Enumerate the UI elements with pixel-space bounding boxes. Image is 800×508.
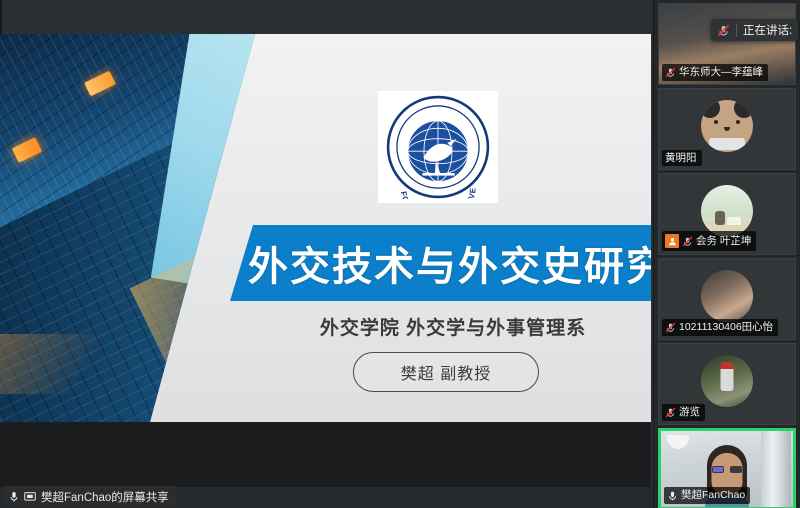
participant-name: 游览 [679,407,700,418]
participant-name-tag: 黄明阳 [662,150,702,167]
speaking-banner-text: 正在讲话: [743,22,792,38]
slide-title: 外交技术与外交史研究 [265,230,651,296]
cat-avatar-icon [701,100,753,152]
avatar [701,100,753,152]
participant-tile-active-speaker[interactable]: 樊超FanChao [658,428,796,508]
share-label-text: 樊超FanChao的屏幕共享 [41,489,169,505]
participant-name: 华东师大—李蕴峰 [679,67,763,78]
participant-tile[interactable]: 黄明阳 [658,88,796,170]
participant-name-tag: 会务 叶芷坤 [662,231,756,251]
screen-share-viewport[interactable]: 外交学院 CHINA FOREIGN AFFAIRS UNIVERSITY 外交… [0,0,653,487]
mic-muted-icon [665,407,676,418]
mic-muted-icon [665,67,676,78]
participant-name-tag: 游览 [662,404,705,421]
active-speaker-banner: 正在讲话: [711,19,798,41]
banner-divider [736,24,737,37]
avatar [701,355,753,407]
mic-muted-icon [665,322,676,333]
presentation-slide: 外交学院 CHINA FOREIGN AFFAIRS UNIVERSITY 外交… [0,34,651,422]
slide-subtitle: 外交学院 外交学与外事管理系 [255,311,651,341]
screen-share-icon [24,492,36,502]
mic-on-icon [667,490,678,501]
hands-photo-avatar-icon [701,270,753,322]
presenter-name-pill: 樊超 副教授 [353,352,539,392]
participant-name: 10211130406田心怡 [679,322,773,333]
screen-share-status-bar: 樊超FanChao的屏幕共享 [4,486,177,507]
microphone-icon [9,491,19,503]
university-logo: 外交学院 CHINA FOREIGN AFFAIRS UNIVERSITY [378,91,498,203]
avatar [701,270,753,322]
participant-name-tag: 华东师大—李蕴峰 [662,64,768,81]
reflection-glow [0,334,120,394]
participant-name: 会务 叶芷坤 [696,236,751,247]
zoom-meeting-window: 外交学院 CHINA FOREIGN AFFAIRS UNIVERSITY 外交… [0,0,800,508]
share-bottom-area [0,422,651,487]
participant-name: 樊超FanChao [681,490,745,501]
participant-tile[interactable]: 华东师大—李蕴峰 [658,3,796,85]
host-person-icon [665,234,679,248]
participant-tile[interactable]: 会务 叶芷坤 [658,173,796,255]
fire-hydrant-avatar-icon [701,355,753,407]
avatar [701,185,753,237]
participant-tile[interactable]: 10211130406田心怡 [658,258,796,340]
participant-name-tag: 10211130406田心怡 [662,319,778,336]
participants-panel[interactable]: 华东师大—李蕴峰 黄明阳 [653,0,800,508]
mic-muted-icon [717,24,730,37]
mic-muted-icon [682,236,693,247]
participant-name-tag: 樊超FanChao [664,487,750,504]
participant-tile[interactable]: 游览 [658,343,796,425]
landscape-avatar-icon [701,185,753,237]
china-foreign-affairs-university-seal-icon: 外交学院 CHINA FOREIGN AFFAIRS UNIVERSITY [386,95,490,199]
participant-name: 黄明阳 [665,153,697,164]
